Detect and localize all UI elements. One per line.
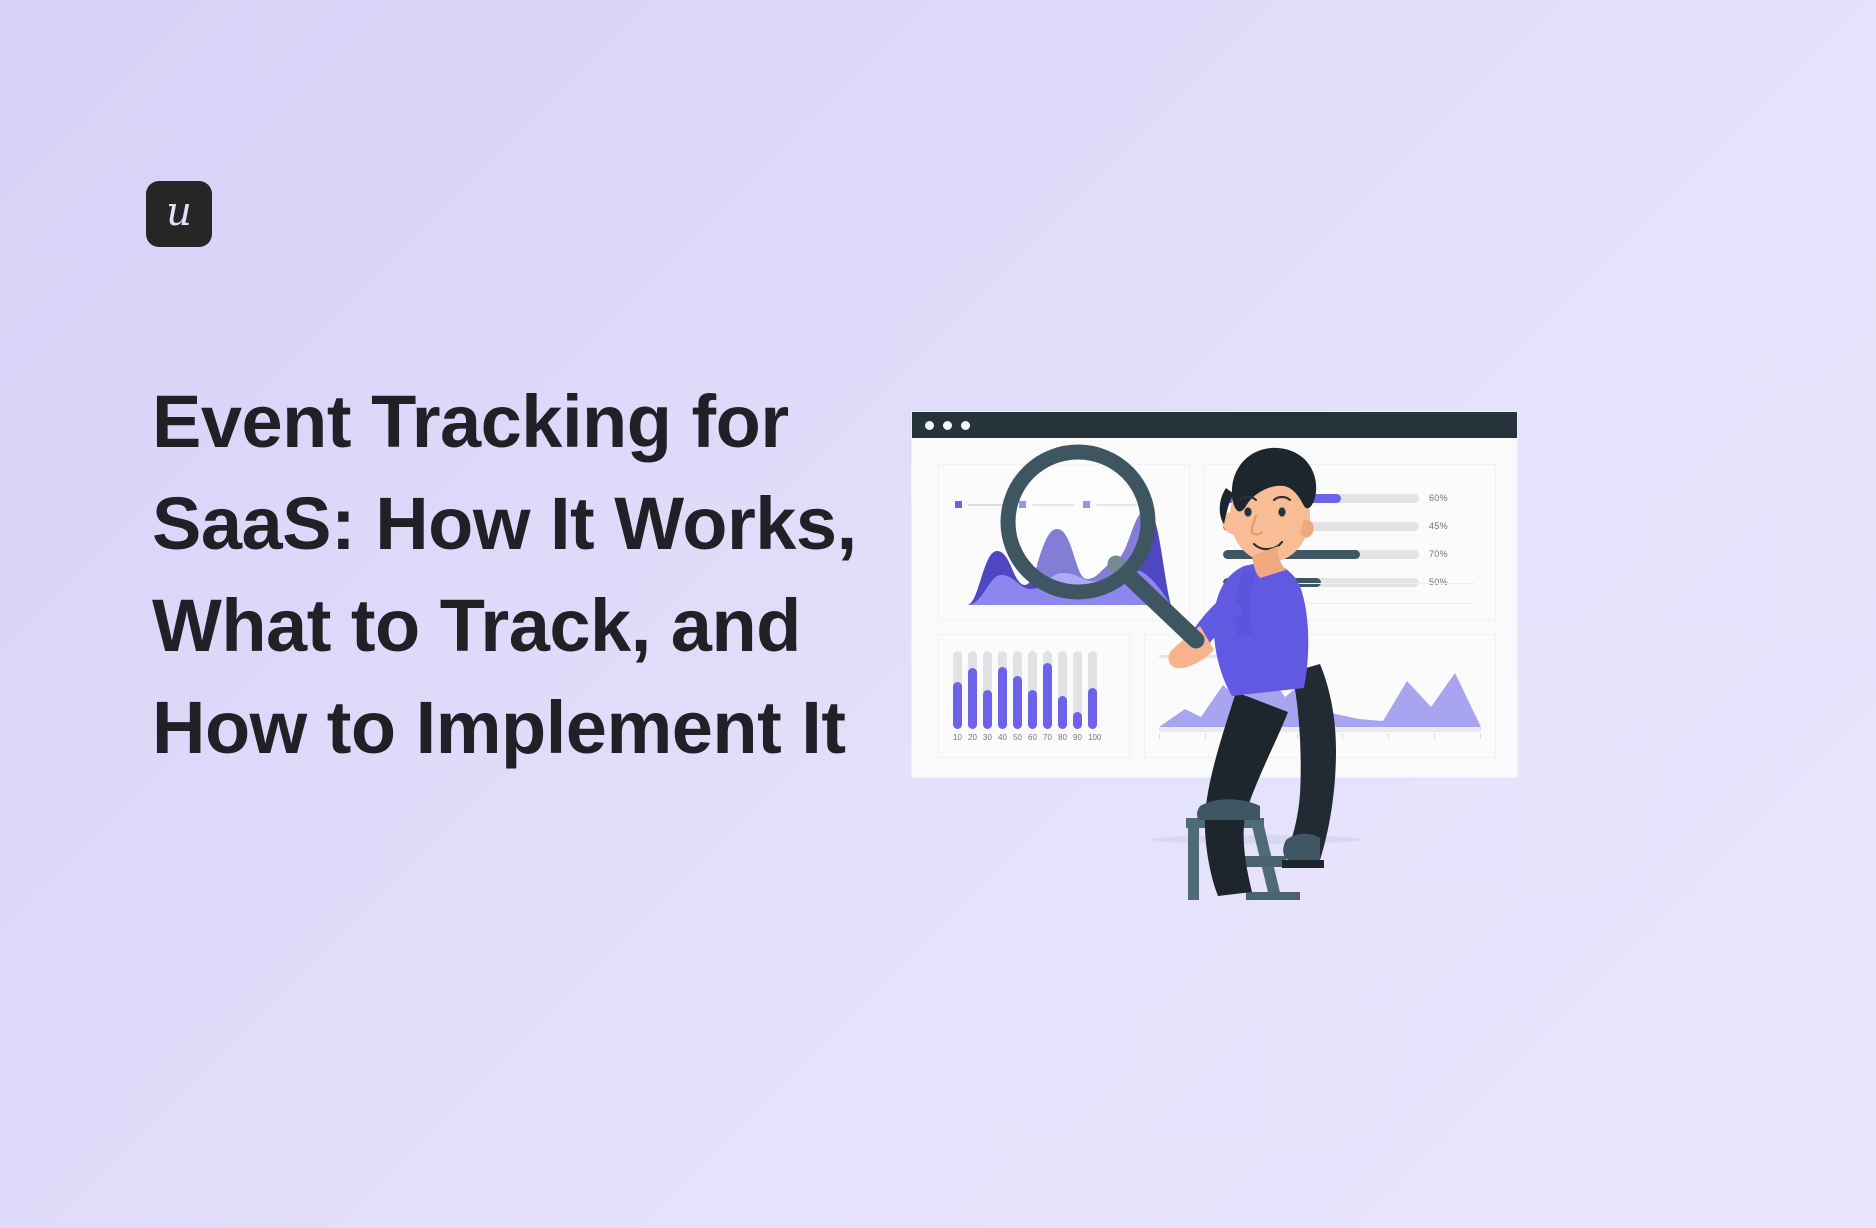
poster-canvas: u Event Tracking for SaaS: How It Works,… bbox=[0, 0, 1876, 1228]
character-head bbox=[1220, 448, 1316, 578]
hero-illustration: 60% 45% 70% bbox=[900, 320, 1520, 900]
magnifying-glass-icon bbox=[1008, 452, 1196, 640]
page-title: Event Tracking for SaaS: How It Works, W… bbox=[152, 371, 882, 779]
brand-logo[interactable]: u bbox=[146, 181, 212, 247]
character-and-magnifier bbox=[900, 320, 1520, 900]
brand-logo-glyph: u bbox=[166, 192, 192, 232]
character-torso bbox=[1214, 562, 1309, 696]
